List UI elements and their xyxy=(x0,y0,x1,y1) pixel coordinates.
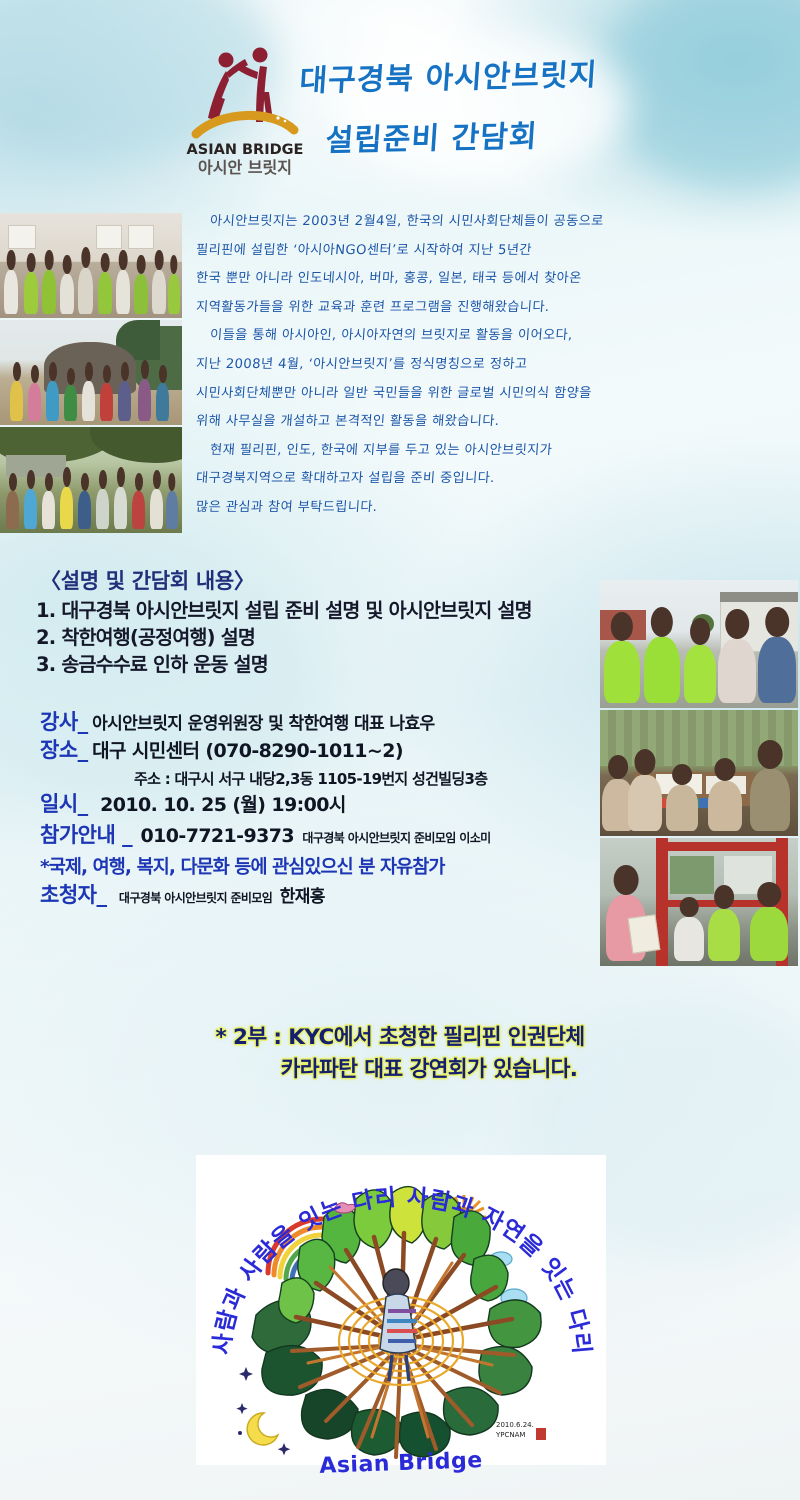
host-label: 초청자_ xyxy=(40,883,106,907)
datetime-label: 일시_ xyxy=(40,792,88,816)
open-participation-note: *국제, 여행, 복지, 다문화 등에 관심있으신 분 자유참가 xyxy=(40,853,600,879)
datetime-value: 2010. 10. 25 (월) 19:00시 xyxy=(100,794,346,816)
poster-header: ASIAN BRIDGE 아시안 브릿지 대구경북 아시안브릿지 설립준비 간담… xyxy=(0,0,800,190)
intro-line: 많은 관심과 참여 부탁드립니다. xyxy=(195,494,793,523)
asian-bridge-logo: ASIAN BRIDGE 아시안 브릿지 xyxy=(186,42,304,178)
logo-english-name: ASIAN BRIDGE xyxy=(187,142,304,158)
photo-children-reading-library xyxy=(600,838,798,966)
speaker-label: 강사_ xyxy=(40,710,88,734)
intro-line: 한국 뿐만 아니라 인도네시아, 버마, 홍콩, 일본, 태국 등에서 찾아온 xyxy=(195,265,793,294)
part-two-line-2: 카라파탄 대표 강연회가 있습니다. xyxy=(0,1054,800,1086)
photo-group-on-rocks-beach xyxy=(0,320,182,425)
part-two-line-1: * 2부 : KYC에서 초청한 필리핀 인권단체 xyxy=(0,1022,800,1054)
intro-line: 시민사회단체뿐만 아니라 일반 국민들을 위한 글로벌 시민의식 함양을 xyxy=(195,380,793,409)
photo-children-green-shirts xyxy=(600,580,798,708)
logo-figure-head-right xyxy=(253,48,268,63)
detail-row-place: 장소_ 대구 시민센터 (070-8290-1011~2) xyxy=(40,740,600,761)
title-line-1: 대구경북 아시안브릿지 xyxy=(298,48,682,100)
intro-line: 이들을 통해 아시아인, 아시아자연의 브릿지로 활동을 이어오다, xyxy=(195,322,793,351)
intro-line: 현재 필리핀, 인도, 한국에 지부를 두고 있는 아시안브릿지가 xyxy=(195,437,793,466)
signature-date: 2010.6.24. xyxy=(496,1421,534,1429)
event-details: 강사_ 아시안브릿지 운영위원장 및 착한여행 대표 나효우 장소_ 대구 시민… xyxy=(40,712,600,913)
agenda-section: 〈설명 및 간담회 내용〉 1. 대구경북 아시안브릿지 설립 준비 설명 및 … xyxy=(36,565,596,678)
detail-row-datetime: 일시_ 2010. 10. 25 (월) 19:00시 xyxy=(40,794,600,815)
host-name: 한재홍 xyxy=(280,887,325,907)
photo-community-group-outdoors xyxy=(0,427,182,533)
intro-line: 지역활동가들을 위한 교육과 훈련 프로그램을 진행해왔습니다. xyxy=(195,294,793,323)
intro-line: 위해 사무실을 개설하고 본격적인 활동을 해왔습니다. xyxy=(195,408,793,437)
detail-row-host: 초청자_ 대구경북 아시안브릿지 준비모임 한재홍 xyxy=(40,885,600,906)
intro-line: 지난 2008년 4월, ‘아시안브릿지’를 정식명칭으로 정하고 xyxy=(195,351,793,380)
place-label: 장소_ xyxy=(40,738,88,762)
logo-figure-head-left xyxy=(219,53,234,68)
left-photo-strip xyxy=(0,213,182,533)
speaker-value: 아시안브릿지 운영위원장 및 착한여행 대표 나효우 xyxy=(92,714,434,734)
agenda-item: 1. 대구경북 아시안브릿지 설립 준비 설명 및 아시안브릿지 설명 xyxy=(36,597,596,624)
photo-workshop-group-indoors xyxy=(0,213,182,318)
agenda-title: 〈설명 및 간담회 내용〉 xyxy=(40,565,596,595)
photo-children-classroom-drawing xyxy=(600,710,798,836)
moon-icon xyxy=(247,1413,278,1445)
poster-canvas: ASIAN BRIDGE 아시안 브릿지 대구경북 아시안브릿지 설립준비 간담… xyxy=(0,0,800,1500)
bottom-artwork: 사람과 사람을 잇는 다리 사람과 자연을 잇는 다리 2010.6.24. Y… xyxy=(196,1155,606,1495)
part-two-banner: * 2부 : KYC에서 초청한 필리핀 인권단체 카라파탄 대표 강연회가 있… xyxy=(0,1022,800,1086)
registration-phone: 010-7721-9373 xyxy=(141,825,294,847)
intro-line: 필리핀에 설립한 ‘아시아NGO센터’로 시작하여 지난 5년간 xyxy=(195,237,793,266)
signature-name: YPCNAM xyxy=(495,1431,525,1439)
intro-line: 아시안브릿지는 2003년 2월4일, 한국의 시민사회단체들이 공동으로 xyxy=(195,208,793,237)
logo-korean-name: 아시안 브릿지 xyxy=(198,158,292,177)
host-org: 대구경북 아시안브릿지 준비모임 xyxy=(119,891,272,905)
registration-label: 참가안내 _ xyxy=(40,823,132,847)
detail-row-speaker: 강사_ 아시안브릿지 운영위원장 및 착한여행 대표 나효우 xyxy=(40,712,600,733)
poster-title: 대구경북 아시안브릿지 설립준비 간담회 xyxy=(300,52,680,156)
agenda-item: 3. 송금수수료 인하 운동 설명 xyxy=(36,651,596,678)
artist-signature: 2010.6.24. YPCNAM xyxy=(495,1421,546,1440)
place-value: 대구 시민센터 (070-8290-1011~2) xyxy=(92,740,403,762)
agenda-item: 2. 착한여행(공정여행) 설명 xyxy=(36,624,596,651)
detail-row-registration: 참가안내 _ 010-7721-9373 대구경북 아시안브릿지 준비모임 이소… xyxy=(40,825,600,846)
right-photo-strip xyxy=(600,580,798,970)
intro-paragraph: 아시안브릿지는 2003년 2월4일, 한국의 시민사회단체들이 공동으로 필리… xyxy=(196,208,792,523)
registration-contact: 대구경북 아시안브릿지 준비모임 이소미 xyxy=(302,831,490,845)
title-line-2: 설립준비 간담회 xyxy=(324,108,681,159)
place-address: 주소 : 대구시 서구 내당2,3동 1105-19번지 성건빌딩3층 xyxy=(134,768,600,789)
intro-line: 대구경북지역으로 확대하고자 설립을 준비 중입니다. xyxy=(195,465,793,494)
